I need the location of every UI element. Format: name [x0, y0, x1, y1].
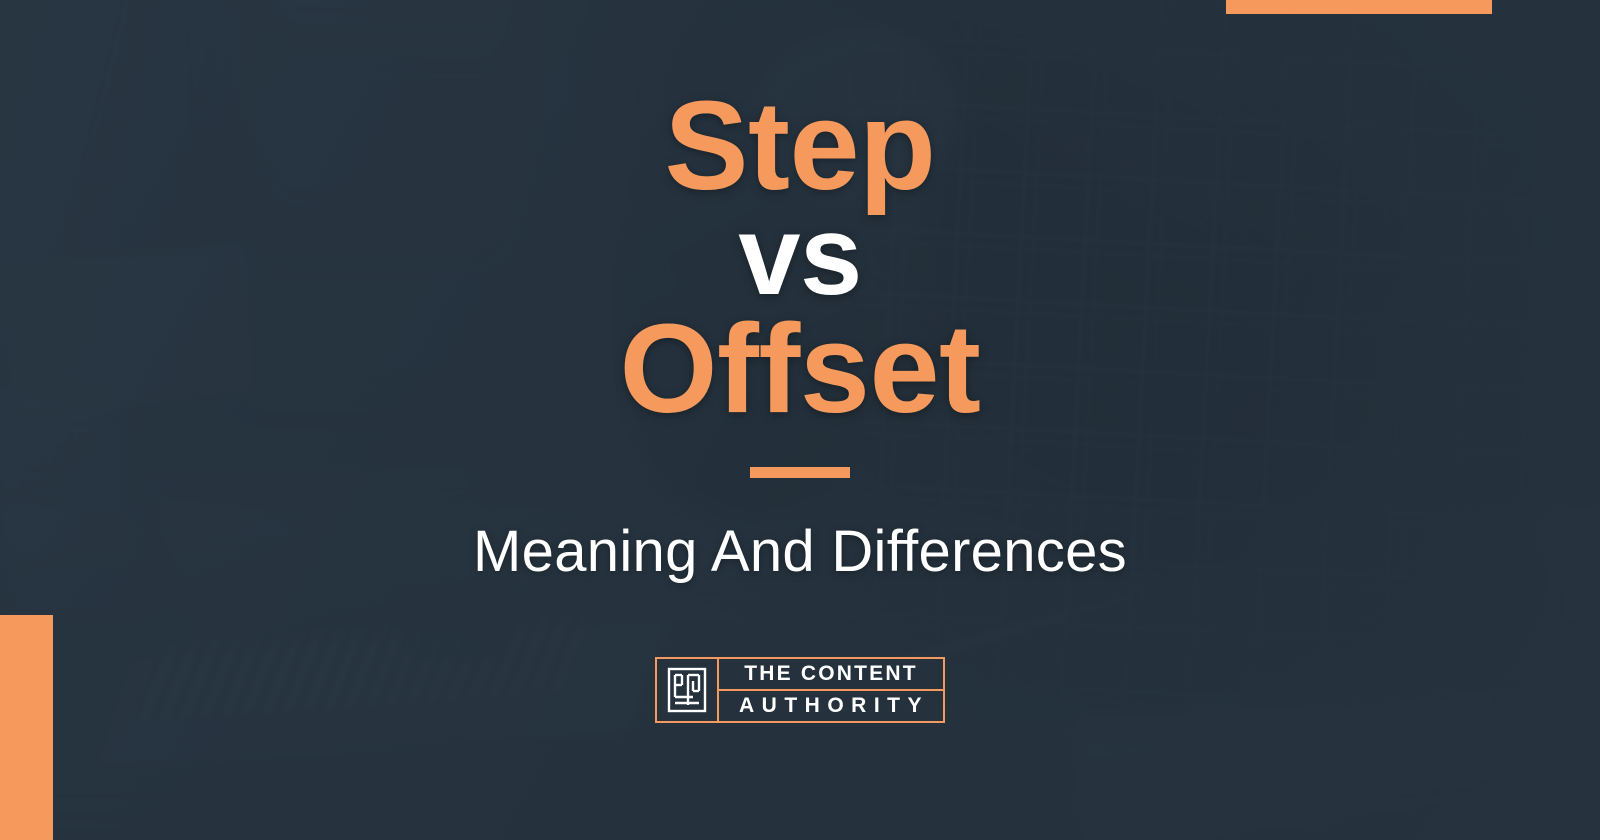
title-word-step: Step: [619, 84, 980, 207]
title-word-vs: vs: [619, 201, 980, 311]
brand-logo[interactable]: THE CONTENT AUTHORITY: [655, 657, 945, 723]
page-subtitle: Meaning And Differences: [473, 518, 1127, 585]
brand-logo-line-1: THE CONTENT: [719, 659, 943, 691]
brand-logo-line-2: AUTHORITY: [719, 691, 943, 721]
article-hero-banner: Step vs Offset Meaning And Differences: [0, 0, 1600, 840]
brand-logo-wordmark: THE CONTENT AUTHORITY: [719, 659, 943, 721]
title-word-offset: Offset: [619, 307, 980, 430]
title-divider: [750, 467, 850, 478]
page-title: Step vs Offset: [619, 84, 980, 431]
content-authority-maze-mark-icon: [657, 659, 719, 721]
